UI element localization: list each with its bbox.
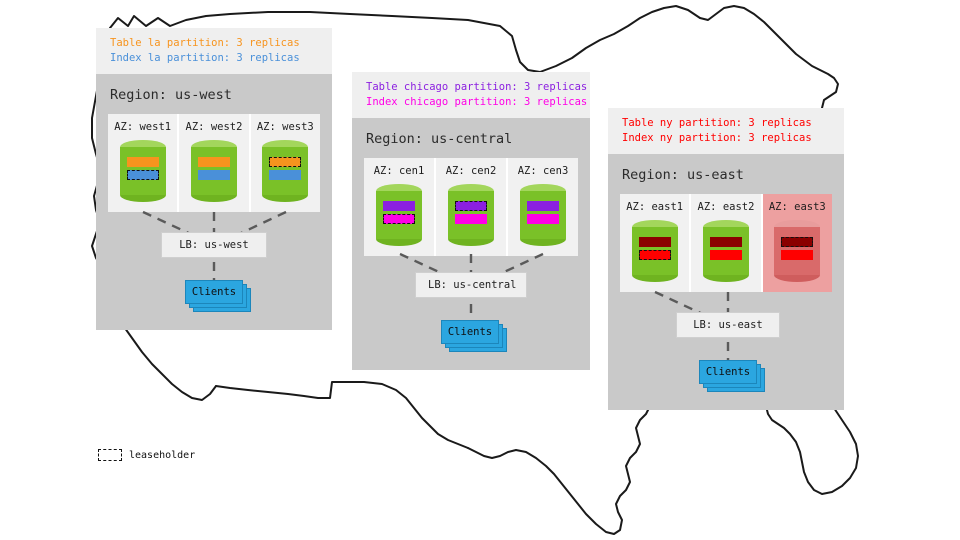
replica-band-index <box>269 170 301 180</box>
clients-us-west[interactable]: Clients <box>185 280 251 312</box>
legend-label: leaseholder <box>129 450 195 461</box>
replica-band-index <box>455 214 487 224</box>
dashed-rectangle-icon <box>98 449 122 461</box>
replica-band-table-leaseholder <box>455 201 487 211</box>
az-label: AZ: cen1 <box>364 165 434 177</box>
clients-us-east[interactable]: Clients <box>699 360 765 392</box>
az-label: AZ: cen2 <box>436 165 506 177</box>
replica-band-index-leaseholder <box>639 250 671 260</box>
region-us-central-header: Table chicago partition: 3 replicas Inde… <box>352 72 590 118</box>
az-label: AZ: east1 <box>620 201 689 213</box>
replica-band-table <box>127 157 159 167</box>
replica-band-table <box>383 201 415 211</box>
table-partition-label: Table la partition: 3 replicas <box>110 36 320 51</box>
table-partition-label: Table chicago partition: 3 replicas <box>366 80 578 95</box>
az-label: AZ: cen3 <box>508 165 578 177</box>
az-label: AZ: west1 <box>108 121 177 133</box>
clients-label: Clients <box>441 320 499 344</box>
replica-band-index-leaseholder <box>127 170 159 180</box>
clients-label: Clients <box>699 360 757 384</box>
replica-band-table <box>710 237 742 247</box>
lb-us-west[interactable]: LB: us-west <box>161 232 267 258</box>
replica-band-index-leaseholder <box>383 214 415 224</box>
region-us-east-header: Table ny partition: 3 replicas Index ny … <box>608 108 844 154</box>
region-title: Region: us-east <box>608 154 844 194</box>
index-partition-label: Index chicago partition: 3 replicas <box>366 95 578 110</box>
replica-band-index <box>527 214 559 224</box>
diagram-canvas: Table la partition: 3 replicas Index la … <box>0 0 960 540</box>
az-label: AZ: west2 <box>179 121 248 133</box>
clients-label: Clients <box>185 280 243 304</box>
clients-us-central[interactable]: Clients <box>441 320 507 352</box>
replica-band-index <box>710 250 742 260</box>
region-title: Region: us-central <box>352 118 590 158</box>
replica-band-index <box>781 250 813 260</box>
replica-band-table <box>639 237 671 247</box>
index-partition-label: Index ny partition: 3 replicas <box>622 131 832 146</box>
replica-band-table-leaseholder <box>269 157 301 167</box>
az-label: AZ: west3 <box>251 121 320 133</box>
az-label: AZ: east3 <box>763 201 832 213</box>
replica-band-table <box>198 157 230 167</box>
az-label: AZ: east2 <box>691 201 760 213</box>
index-partition-label: Index la partition: 3 replicas <box>110 51 320 66</box>
legend: leaseholder <box>98 449 195 461</box>
replica-band-table <box>527 201 559 211</box>
lb-us-east[interactable]: LB: us-east <box>676 312 780 338</box>
table-partition-label: Table ny partition: 3 replicas <box>622 116 832 131</box>
replica-band-index <box>198 170 230 180</box>
region-title: Region: us-west <box>96 74 332 114</box>
lb-us-central[interactable]: LB: us-central <box>415 272 527 298</box>
replica-band-table-leaseholder <box>781 237 813 247</box>
region-us-west-header: Table la partition: 3 replicas Index la … <box>96 28 332 74</box>
